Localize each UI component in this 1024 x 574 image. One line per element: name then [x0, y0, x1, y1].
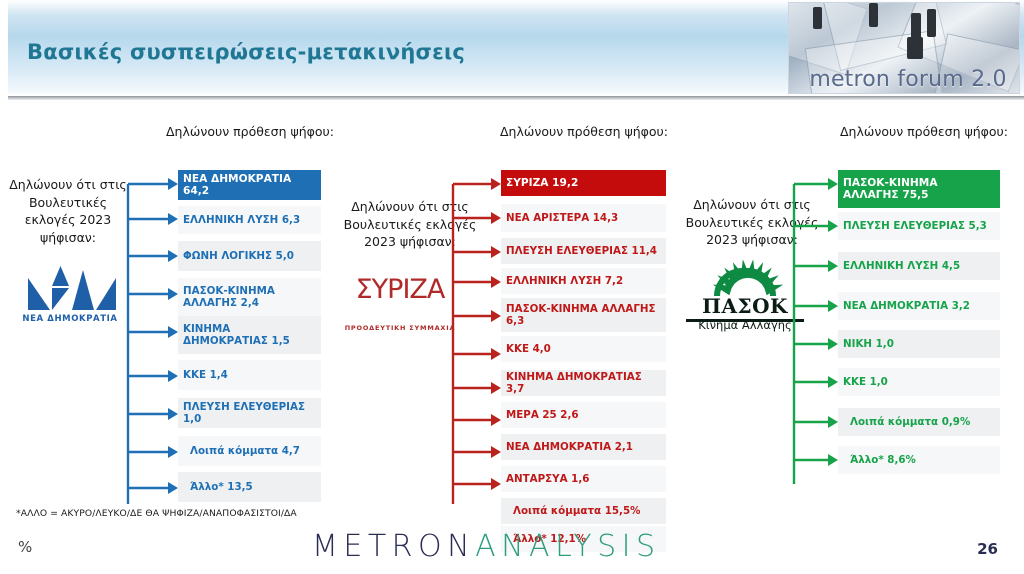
result-row: ΠΛΕΥΣΗ ΕΛΕΥΘΕΡΙΑΣ 11,4 — [501, 238, 666, 264]
result-row: ΝΕΑ ΔΗΜΟΚΡΑΤΙΑ 3,2 — [838, 292, 1000, 320]
result-row: ΕΛΛΗΝΙΚΗ ΛΥΣΗ 7,2 — [501, 268, 666, 294]
result-row: ΝΕΑ ΑΡΙΣΤΕΡΑ 14,3 — [501, 204, 666, 232]
nd-logo-shape — [72, 270, 94, 310]
nd-logo-shape — [96, 278, 116, 310]
brand-analysis-text: ANALYSIS — [475, 529, 660, 564]
result-row: ΚΚΕ 1,4 — [178, 360, 321, 390]
result-row: ΠΑΣΟΚ-ΚΙΝΗΜΑ ΑΛΛΑΓΗΣ 2,4 — [178, 278, 321, 316]
column-nd: Δηλώνουν πρόθεση ψήφου: Δηλώνουν ότι στι… — [0, 104, 340, 504]
result-row: ΠΑΣΟΚ-ΚΙΝΗΜΑ ΑΛΛΑΓΗΣ 75,5 — [838, 170, 1000, 208]
header-divider — [8, 96, 1024, 100]
column-heading-syriza: Δηλώνουν πρόθεση ψήφου: — [484, 124, 684, 141]
metron-forum-logo: metron forum 2.0 — [788, 2, 1020, 94]
pasok-logo: ΠΑΣΟΚ Κίνημα Αλλαγής — [686, 254, 804, 332]
result-row: ΠΛΕΥΣΗ ΕΛΕΥΘΕΡΙΑΣ 1,0 — [178, 398, 321, 428]
metron-forum-logo-text: metron forum 2.0 — [795, 67, 1020, 92]
slide-left-margin — [0, 0, 8, 574]
result-row: ΝΕΑ ΔΗΜΟΚΡΑΤΙΑ 64,2 — [178, 170, 321, 200]
result-row: Άλλο* 13,5 — [178, 472, 321, 502]
result-row: Λοιπά κόμματα 0,9% — [838, 408, 1000, 436]
result-row: ΚΙΝΗΜΑ ΔΗΜΟΚΡΑΤΙΑΣ 3,7 — [501, 370, 666, 396]
footnote: *ΑΛΛΟ = ΑΚΥΡΟ/ΛΕΥΚΟ/ΔΕ ΘΑ ΨΗΦΙΖΑ/ΑΝΑΠΟΦΑ… — [16, 508, 297, 519]
results-panel-pasok: ΠΑΣΟΚ-ΚΙΝΗΜΑ ΑΛΛΑΓΗΣ 75,5ΠΛΕΥΣΗ ΕΛΕΥΘΕΡΙ… — [838, 170, 1000, 474]
page-title: Βασικές συσπειρώσεις-μετακινήσεις — [27, 40, 465, 64]
column-heading-nd: Δηλώνουν πρόθεση ψήφου: — [160, 124, 340, 141]
column-heading-pasok: Δηλώνουν πρόθεση ψήφου: — [824, 124, 1024, 141]
source-label-pasok: Δηλώνουν ότι στις Βουλευτικές εκλογές 20… — [682, 196, 822, 249]
logo-figure — [911, 13, 921, 39]
result-row: ΚΚΕ 4,0 — [501, 336, 666, 362]
result-row: ΕΛΛΗΝΙΚΗ ΛΥΣΗ 6,3 — [178, 206, 321, 234]
nd-logo-shape — [28, 278, 50, 310]
result-row: ΣΥΡΙΖΑ 19,2 — [501, 170, 666, 196]
nd-logo-shape — [52, 288, 69, 310]
result-row: ΜΕΡΑ 25 2,6 — [501, 402, 666, 428]
result-row: ΚΚΕ 1,0 — [838, 368, 1000, 396]
result-row: ΕΛΛΗΝΙΚΗ ΛΥΣΗ 4,5 — [838, 252, 1000, 280]
results-panel-syriza: ΣΥΡΙΖΑ 19,2ΝΕΑ ΑΡΙΣΤΕΡΑ 14,3ΠΛΕΥΣΗ ΕΛΕΥΘ… — [501, 170, 666, 552]
syriza-logo-subtext: ΠΡΟΟΔΕΥΤΙΚΗ ΣΥΜΜΑΧΙΑ — [344, 324, 456, 332]
slide-root: Βασικές συσπειρώσεις-μετακινήσεις metron… — [0, 0, 1024, 574]
column-syriza: Δηλώνουν πρόθεση ψήφου: Δηλώνουν ότι στι… — [336, 104, 682, 504]
percent-unit-label: % — [18, 538, 32, 556]
logo-figure — [869, 3, 878, 27]
result-row: Λοιπά κόμματα 4,7 — [178, 436, 321, 466]
logo-figure — [813, 7, 822, 29]
result-row: ΦΩΝΗ ΛΟΓΙΚΗΣ 5,0 — [178, 241, 321, 271]
result-row: ΠΑΣΟΚ-ΚΙΝΗΜΑ ΑΛΛΑΓΗΣ 6,3 — [501, 298, 666, 332]
logo-figure — [927, 9, 936, 37]
result-row: ΝΕΑ ΔΗΜΟΚΡΑΤΙΑ 2,1 — [501, 434, 666, 460]
logo-figure — [907, 37, 923, 59]
result-row: Άλλο* 8,6% — [838, 446, 1000, 474]
nd-logo: ΝΕΑ ΔΗΜΟΚΡΑΤΙΑ — [12, 254, 128, 324]
page-number: 26 — [977, 540, 998, 558]
nd-logo-text: ΝΕΑ ΔΗΜΟΚΡΑΤΙΑ — [12, 314, 128, 324]
column-pasok: Δηλώνουν πρόθεση ψήφου: Δηλώνουν ότι στι… — [676, 104, 1024, 504]
result-row: ΝΙΚΗ 1,0 — [838, 330, 1000, 358]
source-label-syriza: Δηλώνουν ότι στις Βουλευτικές εκλογές 20… — [340, 198, 480, 251]
result-row: ΚΙΝΗΜΑ ΔΗΜΟΚΡΑΤΙΑΣ 1,5 — [178, 316, 321, 354]
result-row: ΠΛΕΥΣΗ ΕΛΕΥΘΕΡΙΑΣ 5,3 — [838, 212, 1000, 240]
pasok-sun-icon — [700, 254, 790, 296]
pasok-logo-subtext: Κίνημα Αλλαγής — [686, 318, 804, 332]
results-panel-nd: ΝΕΑ ΔΗΜΟΚΡΑΤΙΑ 64,2ΕΛΛΗΝΙΚΗ ΛΥΣΗ 6,3ΦΩΝΗ… — [178, 170, 321, 502]
brand-metron-text: METRON — [312, 529, 475, 564]
syriza-logo: ΣΥΡΙΖΑ ΠΡΟΟΔΕΥΤΙΚΗ ΣΥΜΜΑΧΙΑ — [344, 272, 456, 334]
result-row: Λοιπά κόμματα 15,5% — [501, 498, 666, 524]
metron-analysis-logo: METRONANALYSIS — [312, 529, 661, 564]
syriza-logo-text: ΣΥΡΙΖΑ — [344, 274, 456, 305]
nd-logo-shape — [52, 266, 69, 286]
result-row: ΑΝΤΑΡΣΥΑ 1,6 — [501, 466, 666, 492]
source-label-nd: Δηλώνουν ότι στις Βουλευτικές εκλογές 20… — [2, 176, 134, 246]
